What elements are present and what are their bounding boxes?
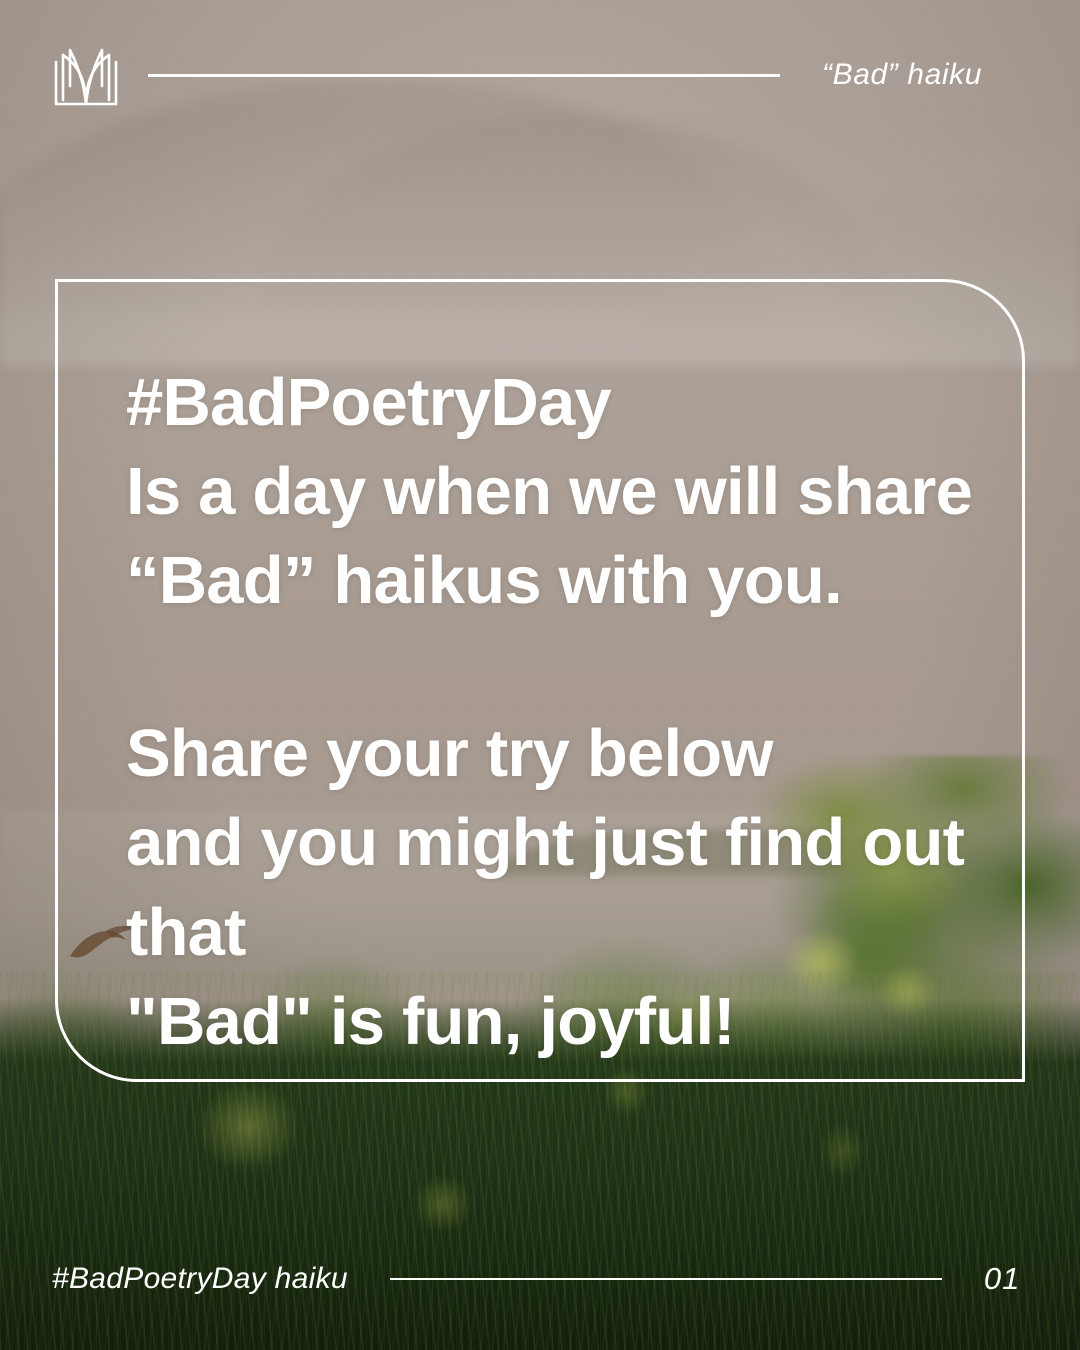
stanza-two: Share your try below and you might just … (126, 709, 1006, 1065)
poem-body: #BadPoetryDay Is a day when we will shar… (126, 358, 1006, 1066)
page-number: 01 (984, 1261, 1020, 1297)
footer-divider (390, 1278, 942, 1280)
header-divider (148, 74, 780, 77)
open-book-icon (52, 42, 120, 108)
footer-label: #BadPoetryDay haiku (52, 1262, 348, 1296)
poetry-card: “Bad” haiku #BadPoetryDay Is a day when … (0, 0, 1080, 1350)
header-label: “Bad” haiku (822, 58, 982, 92)
footer: #BadPoetryDay haiku 01 (0, 1208, 1080, 1350)
stanza-one: #BadPoetryDay Is a day when we will shar… (126, 358, 1006, 625)
header: “Bad” haiku (0, 0, 1080, 150)
